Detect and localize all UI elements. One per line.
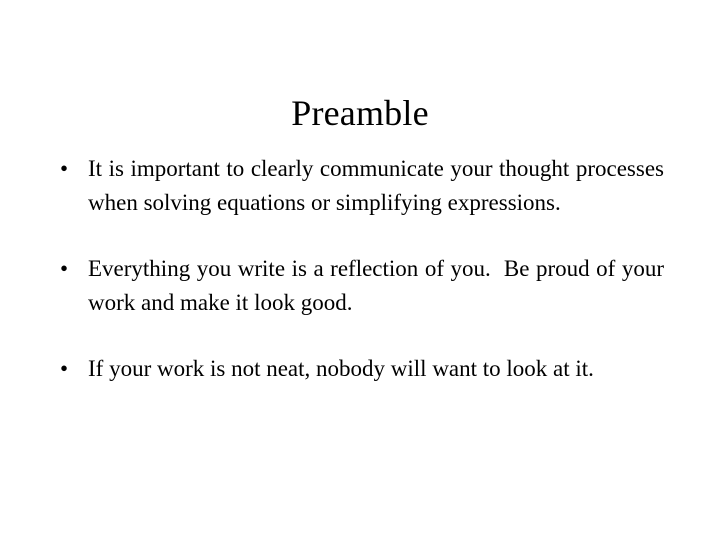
page-title: Preamble — [0, 92, 720, 134]
list-item-text: It is important to clearly communicate y… — [88, 152, 664, 220]
bullet-list: • It is important to clearly communicate… — [56, 152, 664, 386]
bullet-dot-icon: • — [60, 152, 78, 186]
list-item-text: If your work is not neat, nobody will wa… — [88, 352, 664, 386]
bullet-dot-icon: • — [60, 252, 78, 286]
list-item-text: Everything you write is a reflection of … — [88, 252, 664, 320]
list-item: • If your work is not neat, nobody will … — [56, 352, 664, 386]
bullet-dot-icon: • — [60, 352, 78, 386]
list-item: • Everything you write is a reflection o… — [56, 252, 664, 320]
list-item: • It is important to clearly communicate… — [56, 152, 664, 220]
slide-canvas: Preamble • It is important to clearly co… — [0, 0, 720, 540]
